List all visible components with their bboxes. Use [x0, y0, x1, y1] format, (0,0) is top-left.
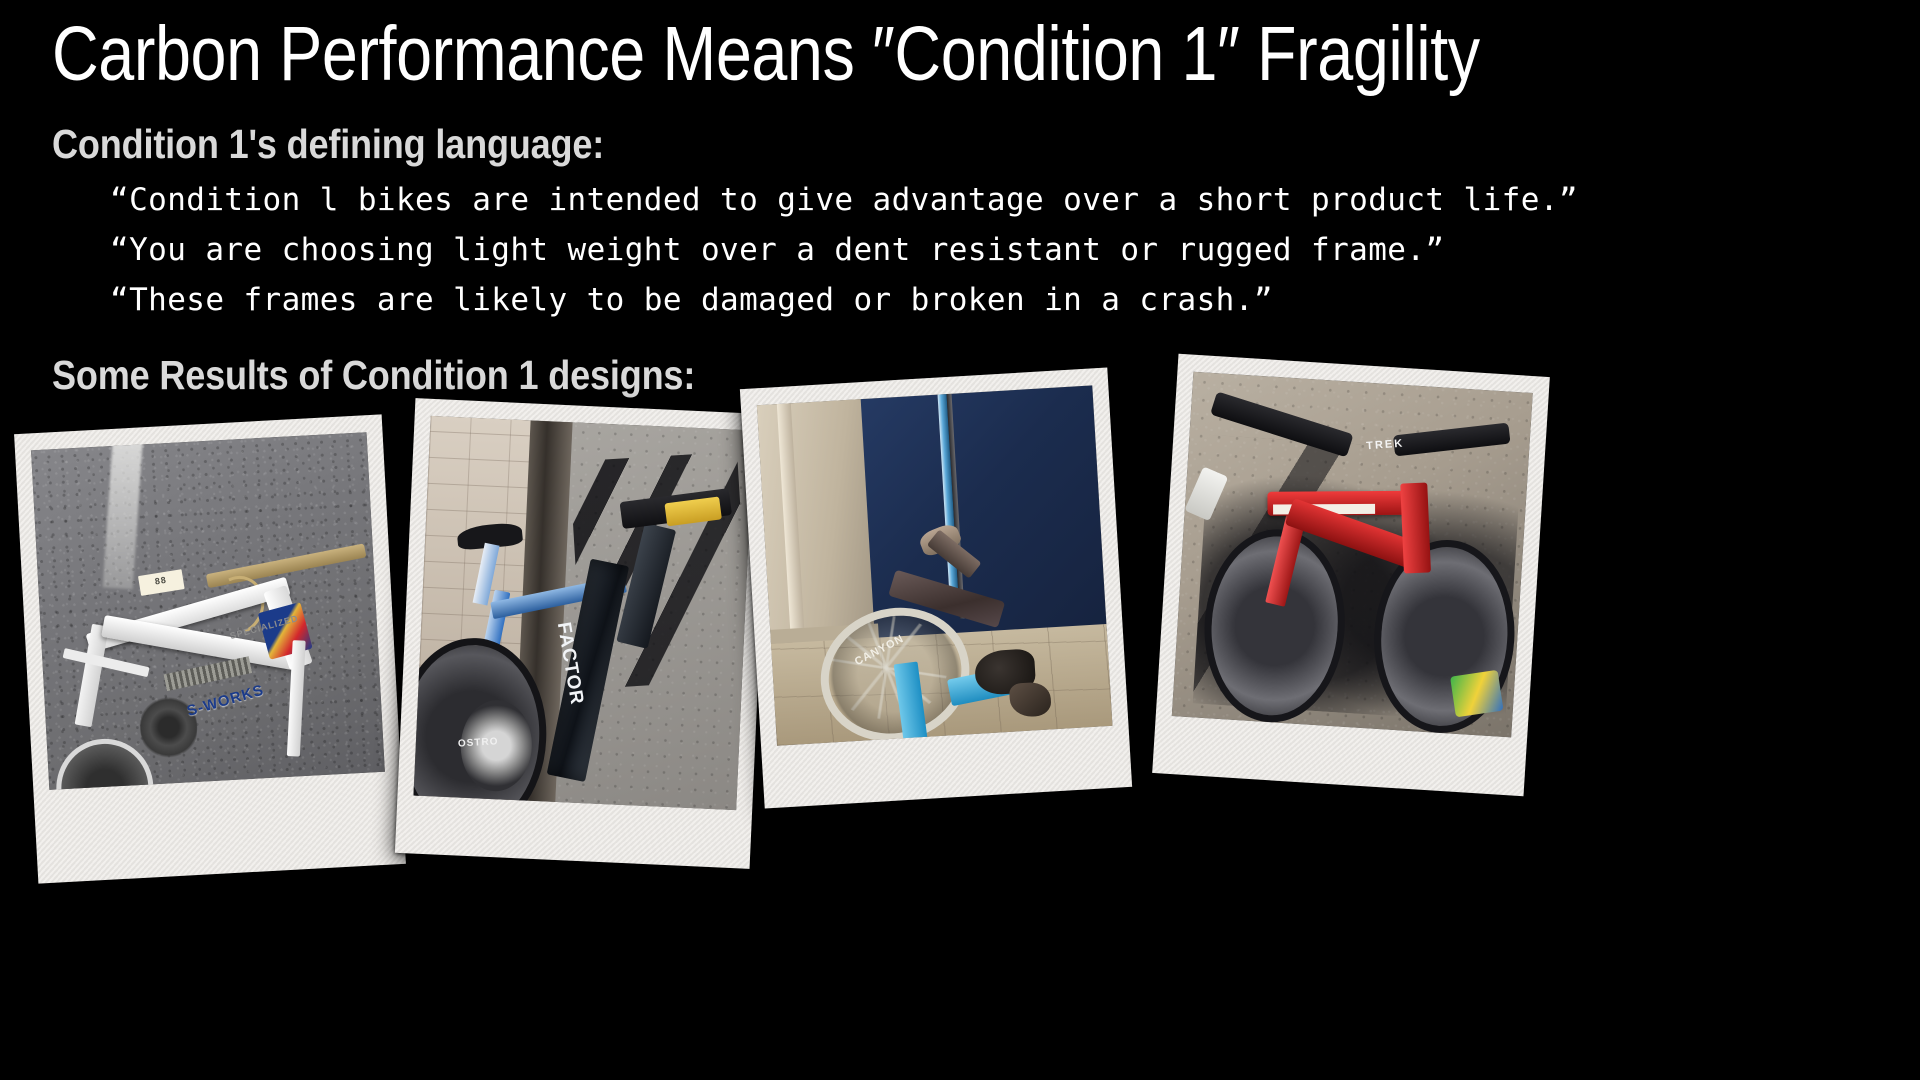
seat-tube-shape [75, 624, 109, 727]
photo-frame-broken-sworks: 88 SPECIALIZED S-WORKS [14, 414, 406, 883]
wall-and-pavement-background: FACTOR OSTRO [413, 416, 753, 810]
colored-object-shape [1450, 670, 1503, 718]
head-tube-shape [1400, 482, 1431, 573]
chain-shape [163, 657, 252, 692]
photo-factor-ostro-wall: FACTOR OSTRO [413, 416, 753, 810]
section-heading-defining-language: Condition 1's defining language: [52, 121, 604, 168]
asphalt-background: 88 SPECIALIZED S-WORKS [31, 432, 385, 790]
indoor-room-background: CANYON [757, 385, 1113, 745]
photo-frame-red-trek: TREK [1152, 354, 1550, 797]
wheel-shape [54, 737, 157, 790]
road-marking [103, 432, 144, 589]
photo-red-trek-asphalt: TREK [1172, 372, 1533, 738]
photo-canyon-crash-indoor: CANYON [757, 385, 1113, 745]
photo-frame-canyon-crash: CANYON [740, 367, 1132, 808]
photo-frame-factor-ostro: FACTOR OSTRO [395, 398, 770, 869]
section-heading-results: Some Results of Condition 1 designs: [52, 352, 695, 399]
frame-model-text: S-WORKS [185, 681, 266, 719]
quote-line-2: “You are choosing light weight over a de… [110, 232, 1444, 268]
seat-stay-shape [63, 648, 150, 677]
quote-line-3: “These frames are likely to be damaged o… [110, 282, 1273, 318]
asphalt-background: TREK [1172, 372, 1533, 738]
quote-line-1: “Condition l bikes are intended to give … [110, 182, 1578, 218]
race-number-plate: 88 [138, 569, 184, 596]
page-title: Carbon Performance Means ″Condition 1″ F… [52, 14, 1598, 95]
photo-broken-sworks-frame: 88 SPECIALIZED S-WORKS [31, 432, 385, 790]
